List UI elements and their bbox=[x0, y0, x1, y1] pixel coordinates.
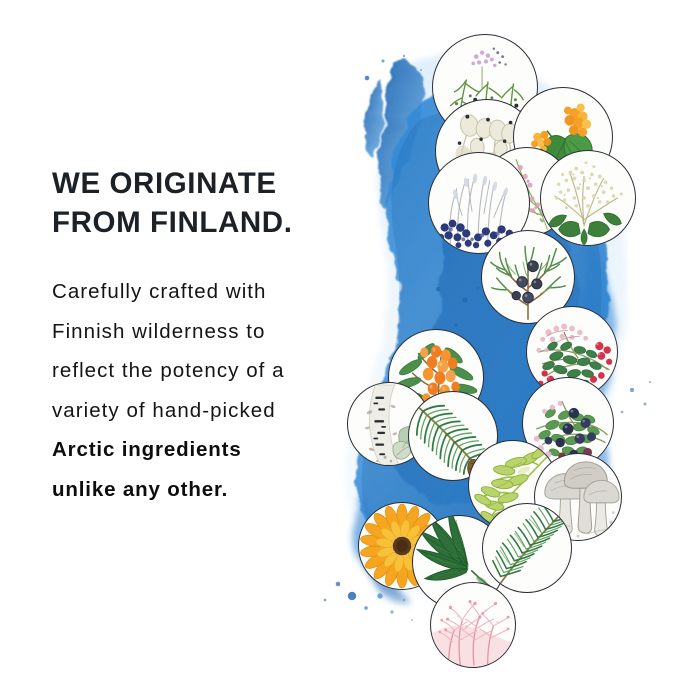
body-copy: Carefully crafted with Finnish wildernes… bbox=[52, 272, 352, 509]
ingredient-circle-pine-needle bbox=[482, 503, 572, 593]
body-line-2: Finnish wilderness to bbox=[52, 312, 352, 352]
page-headline-line1: WE ORIGINATE bbox=[52, 164, 352, 203]
body-line-6: unlike any other. bbox=[52, 470, 352, 510]
body-line-5: Arctic ingredients bbox=[52, 430, 352, 470]
page-headline-line2: FROM FINLAND. bbox=[52, 203, 352, 242]
text-block: WE ORIGINATE FROM FINLAND. Carefully cra… bbox=[52, 164, 352, 509]
poster-canvas: WE ORIGINATE FROM FINLAND. Carefully cra… bbox=[0, 0, 679, 679]
ingredient-circle-elderflower bbox=[540, 150, 636, 246]
cloudberry-fruit-large bbox=[564, 103, 591, 136]
body-line-4: variety of hand-picked bbox=[52, 391, 352, 431]
ingredient-circle-pink-algae bbox=[430, 582, 516, 668]
body-line-3: reflect the potency of a bbox=[52, 351, 352, 391]
body-line-1: Carefully crafted with bbox=[52, 272, 352, 312]
